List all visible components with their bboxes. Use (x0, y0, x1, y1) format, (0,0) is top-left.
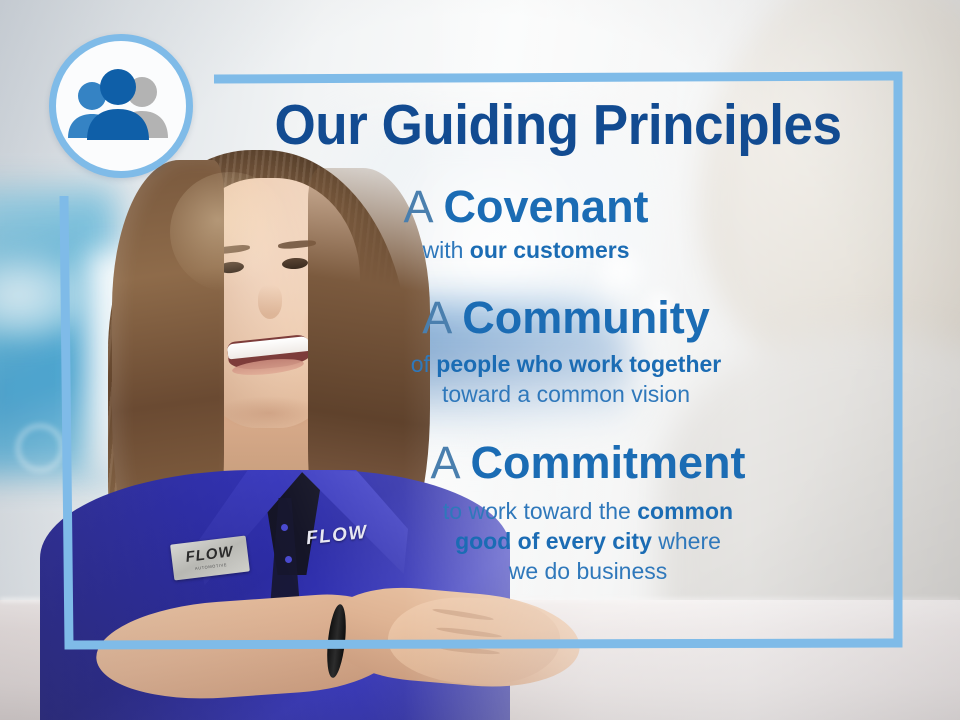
principle-article: A (422, 292, 450, 343)
subtext-line: to work toward the common (279, 497, 897, 527)
principle-covenant: A Covenant with our customers (155, 182, 897, 266)
subtext-bold: people who work together (436, 351, 721, 377)
subtext-line: toward a common vision (235, 380, 897, 410)
principle-subtext: to work toward the common good of every … (279, 497, 897, 587)
people-group-icon (66, 66, 176, 146)
subtext-plain: with (422, 237, 469, 263)
subtext-plain: where (658, 528, 721, 554)
principle-keyword: Covenant (444, 181, 649, 232)
subtext-bold: common (637, 498, 733, 524)
person-center-head (100, 69, 136, 105)
principle-article: A (403, 181, 431, 232)
subtext-line: good of every city where (279, 527, 897, 557)
principles-list: A Covenant with our customers A Communit… (213, 182, 897, 591)
principle-keyword: Community (462, 292, 710, 343)
principle-headline: A Covenant (155, 182, 897, 232)
subtext-line: we do business (279, 557, 897, 587)
principle-commitment: A Commitment to work toward the common g… (279, 438, 897, 586)
principle-headline: A Commitment (279, 438, 897, 488)
principle-community: A Community of people who work together … (235, 293, 897, 409)
people-group-badge (49, 34, 193, 178)
subtext-plain: to work toward the (443, 498, 637, 524)
principle-keyword: Commitment (471, 437, 746, 488)
subtext-plain: of (411, 351, 437, 377)
principle-subtext: of people who work together toward a com… (235, 350, 897, 410)
subtext-bold: good of every city (455, 528, 652, 554)
page-title: Our Guiding Principles (237, 97, 879, 154)
subtext-bold: our customers (470, 237, 630, 263)
principle-article: A (430, 437, 458, 488)
guiding-principles-poster: FLOW AUTOMOTIVE FLOW (0, 0, 960, 720)
principle-headline: A Community (235, 293, 897, 343)
principle-subtext: with our customers (155, 236, 897, 266)
subtext-line: of people who work together (235, 350, 897, 380)
